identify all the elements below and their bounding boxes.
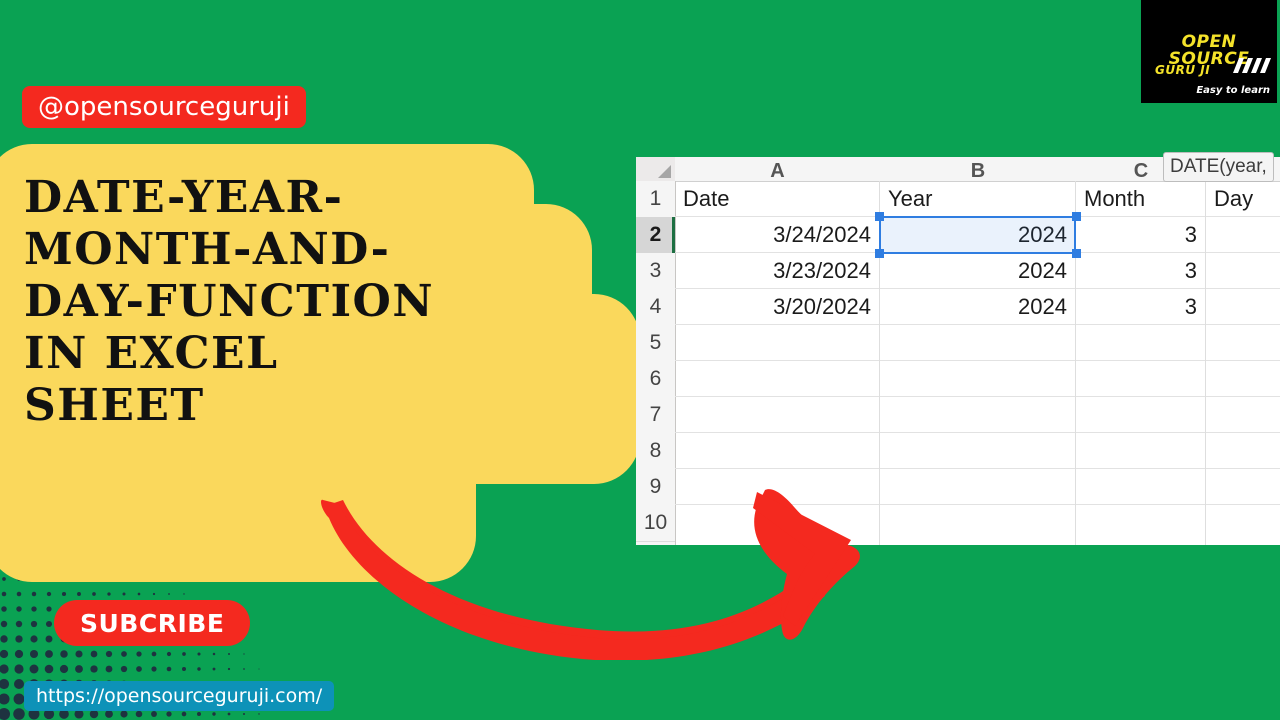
logo-tagline: Easy to learn (1196, 86, 1270, 96)
grid-area[interactable]: Date Year Month Day 3/24/2024 2024 3 3/2… (675, 181, 1280, 545)
cell-c4[interactable]: 3 (1076, 289, 1205, 325)
brand-logo: OPEN SOURCE GURU JI Easy to learn (1141, 0, 1277, 103)
cell-c3[interactable]: 3 (1076, 253, 1205, 289)
row-header-2[interactable]: 2 (636, 217, 675, 254)
website-url-text: https://opensourceguruji.com/ (36, 687, 322, 706)
row-header-9[interactable]: 9 (636, 469, 675, 506)
thumbnail-canvas: OPEN SOURCE GURU JI Easy to learn @opens… (0, 0, 1280, 720)
cell-a1[interactable]: Date (675, 181, 879, 217)
cell-a3[interactable]: 3/23/2024 (675, 253, 879, 289)
gridline-h (675, 396, 1280, 397)
cell-c2[interactable]: 3 (1076, 217, 1205, 253)
gridline-h (675, 432, 1280, 433)
row-header-8[interactable]: 8 (636, 433, 675, 470)
cell-d4[interactable] (1206, 289, 1280, 325)
formula-tooltip: DATE(year, (1163, 152, 1274, 182)
selected-cell-outline[interactable] (879, 216, 1076, 254)
cell-d3[interactable] (1206, 253, 1280, 289)
cell-b3[interactable]: 2024 (880, 253, 1075, 289)
website-url-bar[interactable]: https://opensourceguruji.com/ (24, 681, 334, 711)
gridline-h (675, 468, 1280, 469)
gridline-h (675, 360, 1280, 361)
channel-handle-text: @opensourceguruji (38, 94, 290, 120)
row-header-3[interactable]: 3 (636, 253, 675, 290)
corner-triangle-icon (658, 165, 671, 178)
row-header-7[interactable]: 7 (636, 397, 675, 434)
selection-handle-tl[interactable] (875, 212, 884, 221)
gridline-h (675, 504, 1280, 505)
logo-subtitle: GURU JI (1155, 64, 1210, 76)
column-header-a[interactable]: A (675, 157, 881, 181)
selection-handle-bl[interactable] (875, 249, 884, 258)
selection-handle-tr[interactable] (1072, 212, 1081, 221)
subscribe-label: SUBCRIBE (80, 611, 224, 636)
cell-a2[interactable]: 3/24/2024 (675, 217, 879, 253)
row-header-10[interactable]: 10 (636, 505, 675, 542)
cell-d2[interactable] (1206, 217, 1280, 253)
row-header-4[interactable]: 4 (636, 289, 675, 326)
subscribe-button[interactable]: SUBCRIBE (54, 600, 250, 646)
cell-b4[interactable]: 2024 (880, 289, 1075, 325)
diagonal-slashes-icon (1229, 58, 1271, 73)
select-all-corner-icon[interactable] (636, 157, 676, 181)
row-header-1[interactable]: 1 (636, 181, 675, 218)
cell-c1[interactable]: Month (1076, 181, 1205, 217)
row-header-6[interactable]: 6 (636, 361, 675, 398)
excel-spreadsheet[interactable]: A B C D 1 2 3 4 5 6 7 8 9 10 (636, 157, 1280, 545)
channel-handle-badge: @opensourceguruji (22, 86, 306, 128)
selection-handle-br[interactable] (1072, 249, 1081, 258)
column-header-b[interactable]: B (880, 157, 1077, 181)
cell-d1[interactable]: Day (1206, 181, 1280, 217)
cell-a4[interactable]: 3/20/2024 (675, 289, 879, 325)
row-header-column: 1 2 3 4 5 6 7 8 9 10 (636, 181, 676, 545)
page-title: DATE-YEAR- MONTH-AND- DAY-FUNCTION IN EX… (24, 172, 624, 432)
row-header-5[interactable]: 5 (636, 325, 675, 362)
cell-b1[interactable]: Year (880, 181, 1075, 217)
